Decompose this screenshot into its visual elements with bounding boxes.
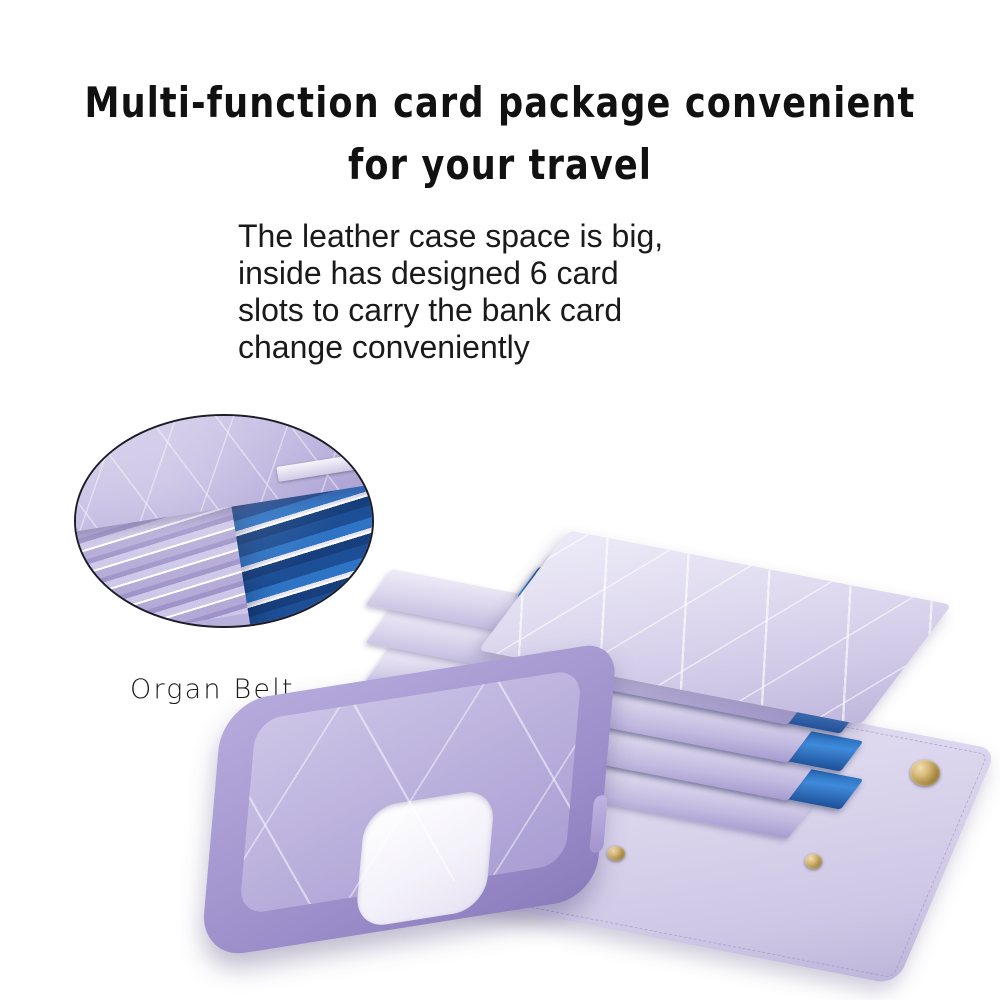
body-copy: The leather case space is big, inside ha… [238, 218, 838, 366]
snap-button-icon [607, 846, 625, 861]
snap-button-icon [910, 760, 940, 786]
body-copy-line-2: inside has designed 6 card [238, 255, 838, 292]
body-copy-line-4: change conveniently [238, 329, 838, 366]
body-copy-line-3: slots to carry the bank card [238, 292, 838, 329]
product-photo: BANK NAME BANK NAME BANK NAME BANK NAME … [195, 520, 1000, 990]
snap-button-icon [805, 854, 822, 869]
phone-case-quilted-panel [239, 669, 582, 916]
headline-line-1: Multi-function card package convenient [35, 72, 965, 134]
camera-cutout [355, 788, 496, 930]
body-copy-line-1: The leather case space is big, [238, 218, 838, 255]
headline-line-2: for your travel [35, 134, 965, 196]
page-headline: Multi-function card package convenient f… [35, 72, 965, 196]
